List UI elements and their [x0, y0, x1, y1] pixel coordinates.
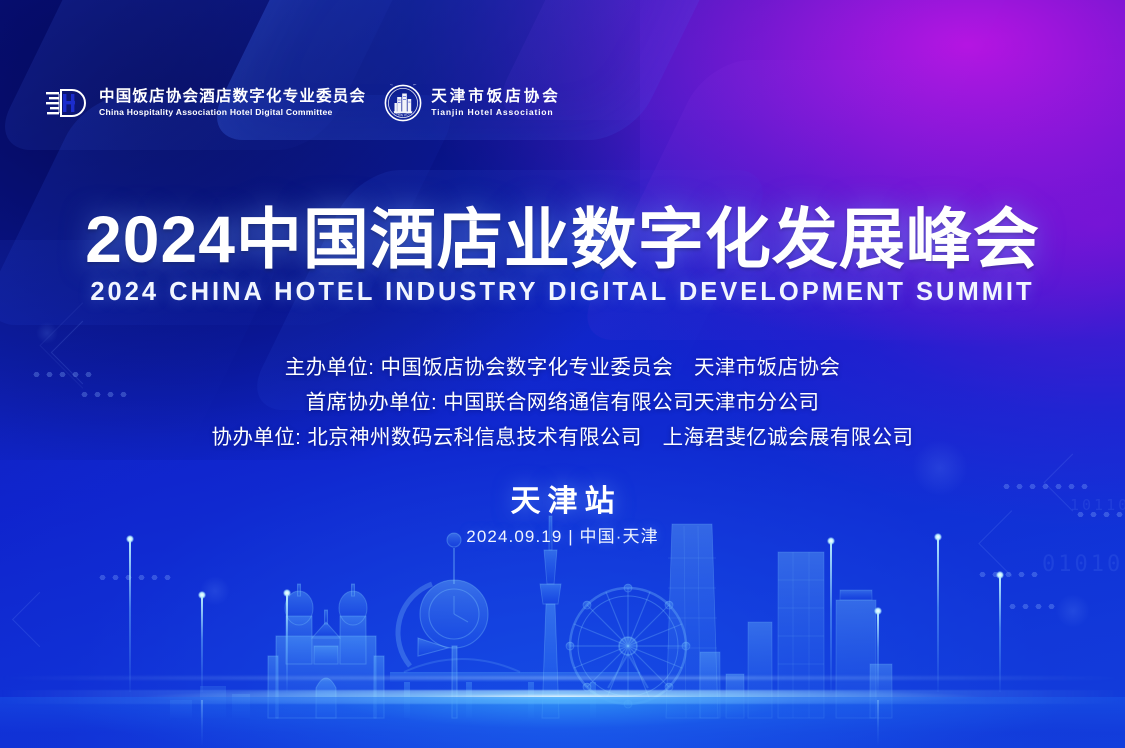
cha-monogram-icon: [46, 86, 90, 120]
tianjin-emblem-icon: 天津市饭店协会 TIANJIN HOTEL: [384, 84, 422, 122]
organizer-line-coorganizer: 协办单位: 北京神州数码云科信息技术有限公司 上海君斐亿诚会展有限公司: [0, 420, 1125, 455]
page-title-cn: 2024中国酒店业数字化发展峰会: [0, 206, 1125, 272]
page-title-en: 2024 CHINA HOTEL INDUSTRY DIGITAL DEVELO…: [0, 280, 1125, 306]
logo-tja-name-cn: 天津市饭店协会: [431, 89, 561, 105]
sponsor-logo-bar: 中国饭店协会酒店数字化专业委员会 China Hospitality Assoc…: [46, 84, 561, 122]
station-date-location: 2024.09.19 | 中国·天津: [0, 528, 1125, 545]
ground-reflection-glow: [0, 697, 1125, 748]
logo-cha-name-cn: 中国饭店协会酒店数字化专业委员会: [99, 89, 366, 105]
logo-china-hospitality-association: 中国饭店协会酒店数字化专业委员会 China Hospitality Assoc…: [46, 86, 366, 120]
logo-cha-name-en: China Hospitality Association Hotel Digi…: [99, 108, 366, 117]
horizon-soft-line: [0, 676, 1125, 680]
organizer-block: 主办单位: 中国饭店协会数字化专业委员会 天津市饭店协会 首席协办单位: 中国联…: [0, 350, 1125, 455]
logo-tja-name-en: Tianjin Hotel Association: [431, 108, 561, 117]
station-name: 天津站: [0, 487, 1125, 517]
organizer-line-host: 主办单位: 中国饭店协会数字化专业委员会 天津市饭店协会: [0, 350, 1125, 385]
logo-tianjin-hotel-association: 天津市饭店协会 TIANJIN HOTEL 天津市饭店协会 Tianjin Ho…: [384, 84, 561, 122]
organizer-line-chief-coorganizer: 首席协办单位: 中国联合网络通信有限公司天津市分公司: [0, 385, 1125, 420]
event-poster: 01010101 10110: [0, 0, 1125, 748]
